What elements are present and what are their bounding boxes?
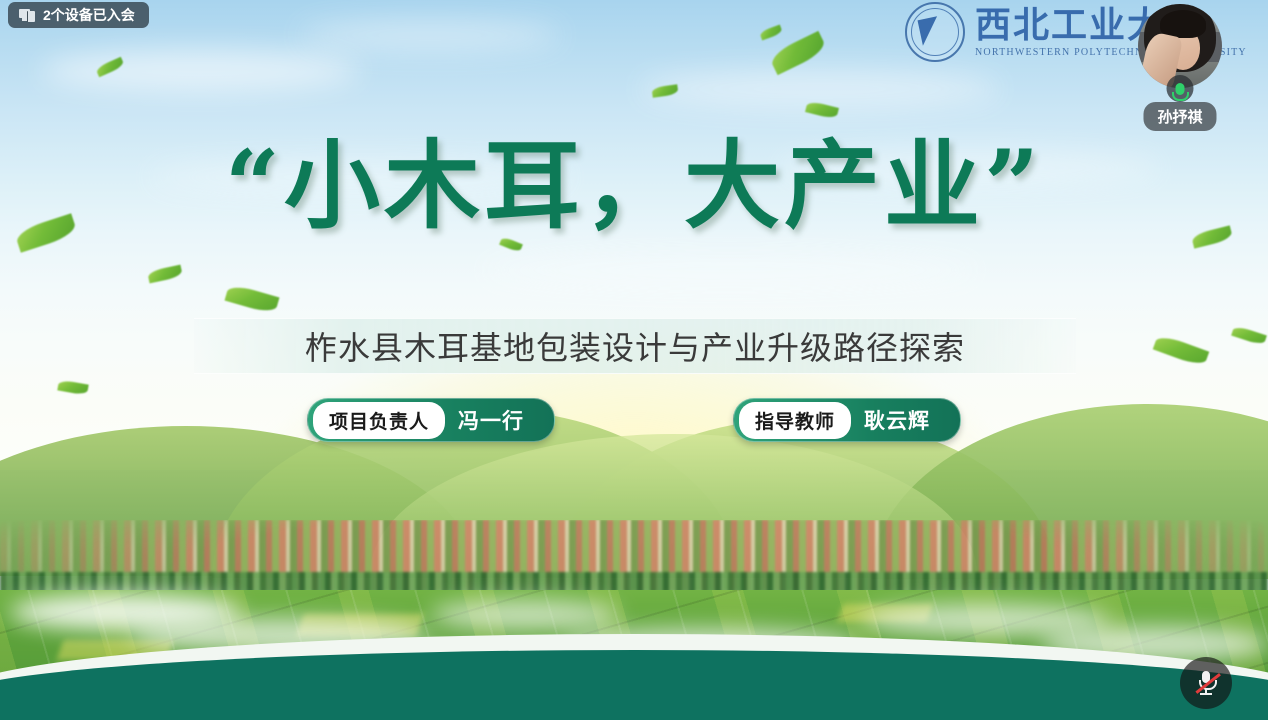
slide-credits: 项目负责人 冯一行 指导教师 耿云辉 xyxy=(0,398,1268,442)
credit-project-leader: 项目负责人 冯一行 xyxy=(307,398,555,442)
cloud xyxy=(300,20,560,50)
credit-supervisor: 指导教师 耿云辉 xyxy=(733,398,961,442)
credit-value: 耿云辉 xyxy=(864,405,930,435)
slide-title: “小木耳，大产业” xyxy=(0,108,1268,247)
university-seal-icon xyxy=(905,2,965,62)
credit-value: 冯一行 xyxy=(458,405,524,435)
microphone-on-icon xyxy=(1167,75,1194,102)
credit-label: 指导教师 xyxy=(739,402,851,439)
slide-subtitle: 柞水县木耳基地包装设计与产业升级路径探索 xyxy=(305,323,965,369)
slide-subtitle-band: 柞水县木耳基地包装设计与产业升级路径探索 xyxy=(194,318,1076,374)
bottom-wave-green xyxy=(0,650,1268,720)
participant-video-tile[interactable]: 孙抒祺 xyxy=(1138,4,1222,88)
meeting-screen: 西北工业大学 NORTHWESTERN POLYTECHNICAL UNIVER… xyxy=(0,0,1268,720)
microphone-muted-icon xyxy=(1198,671,1214,695)
device-joined-label: 2个设备已入会 xyxy=(43,5,135,25)
cloud xyxy=(40,50,360,92)
cloud xyxy=(480,250,980,290)
shared-slide: 西北工业大学 NORTHWESTERN POLYTECHNICAL UNIVER… xyxy=(0,0,1268,720)
participant-name: 孙抒祺 xyxy=(1143,102,1216,131)
cloud xyxy=(640,70,1000,108)
devices-icon xyxy=(19,9,35,22)
mist xyxy=(430,600,620,630)
mute-microphone-button[interactable] xyxy=(1180,657,1232,709)
credit-label: 项目负责人 xyxy=(313,402,445,439)
device-joined-badge: 2个设备已入会 xyxy=(8,2,149,28)
